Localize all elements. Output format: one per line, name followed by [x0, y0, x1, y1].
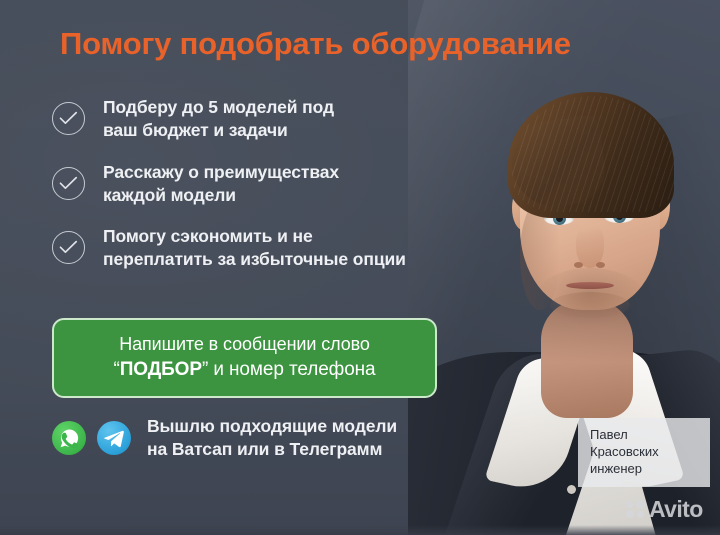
whatsapp-icon[interactable]: [52, 421, 86, 455]
check-circle-icon: [52, 102, 85, 135]
list-item: Подберу до 5 моделей под ваш бюджет и за…: [52, 96, 482, 143]
shirt-button: [567, 485, 576, 494]
advertisement-banner: Помогу подобрать оборудование Подберу до…: [0, 0, 720, 535]
callout-suffix: и номер телефона: [208, 359, 375, 380]
check-circle-icon: [52, 231, 85, 264]
list-item-label: Расскажу о преимуществах каждой модели: [103, 161, 339, 208]
messenger-icons: [52, 421, 131, 455]
avito-watermark: Avito: [626, 496, 703, 523]
list-item-label: Подберу до 5 моделей под ваш бюджет и за…: [103, 96, 334, 143]
consultant-name-badge: Павел Красовских инженер: [578, 418, 710, 487]
list-item: Помогу сэкономить и не переплатить за из…: [52, 225, 482, 272]
chin-shadow: [550, 292, 630, 318]
callout-keyword: ПОДБОР: [120, 359, 202, 380]
avito-brand-label: Avito: [649, 496, 703, 523]
nostril-left: [574, 262, 583, 268]
list-item: Расскажу о преимуществах каждой модели: [52, 161, 482, 208]
avito-dots-logo-icon: [626, 500, 646, 519]
callout-secondary-text: “ПОДБОР” и номер телефона: [113, 358, 375, 383]
telegram-icon[interactable]: [97, 421, 131, 455]
messenger-label: Вышлю подходящие модели на Ватсап или в …: [147, 415, 397, 462]
call-to-action-callout: Напишите в сообщении слово “ПОДБОР” и но…: [52, 318, 437, 398]
benefits-list: Подберу до 5 моделей под ваш бюджет и за…: [52, 96, 482, 290]
check-circle-icon: [52, 167, 85, 200]
callout-primary-text: Напишите в сообщении слово: [119, 333, 370, 356]
mouth: [566, 282, 614, 289]
page-title: Помогу подобрать оборудование: [60, 26, 670, 62]
nostril-right: [596, 262, 605, 268]
list-item-label: Помогу сэкономить и не переплатить за из…: [103, 225, 406, 272]
messenger-contact-row: Вышлю подходящие модели на Ватсап или в …: [52, 415, 397, 462]
